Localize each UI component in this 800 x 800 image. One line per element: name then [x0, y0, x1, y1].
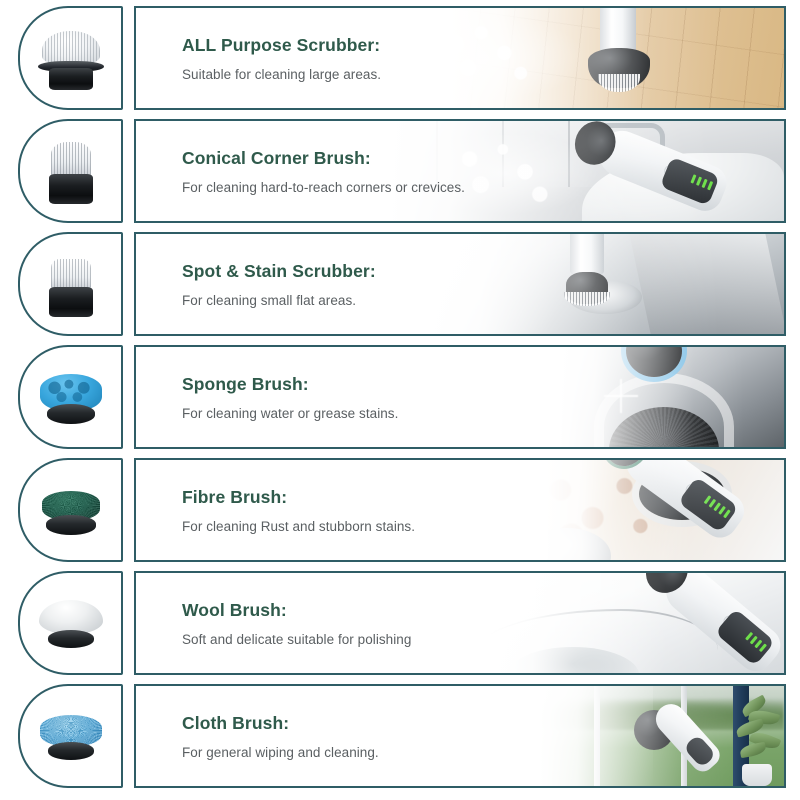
stainless-sink-drain-photo: [384, 234, 784, 334]
card-title: Conical Corner Brush:: [182, 148, 465, 169]
info-card[interactable]: Fibre Brush: For cleaning Rust and stubb…: [134, 458, 786, 562]
card-description: For cleaning small flat areas.: [182, 293, 376, 308]
info-card[interactable]: ALL Purpose Scrubber: Suitable for clean…: [134, 6, 786, 110]
wool-brush-head-icon: [32, 586, 110, 660]
card-title: Fibre Brush:: [182, 487, 415, 508]
card-title: Wool Brush:: [182, 600, 411, 621]
handheld-scrubber-icon: [592, 124, 732, 216]
thumbnail-box[interactable]: [18, 232, 123, 336]
list-item[interactable]: Cloth Brush: For general wiping and clea…: [0, 684, 800, 788]
card-description: For cleaning water or grease stains.: [182, 406, 398, 421]
list-item[interactable]: Conical Corner Brush: For cleaning hard-…: [0, 119, 800, 223]
card-title: Cloth Brush:: [182, 713, 379, 734]
thumbnail-box[interactable]: [18, 571, 123, 675]
handheld-polisher-icon: [657, 573, 784, 673]
card-text: Wool Brush: Soft and delicate suitable f…: [182, 573, 411, 673]
card-text: Spot & Stain Scrubber: For cleaning smal…: [182, 234, 376, 334]
card-text: Conical Corner Brush: For cleaning hard-…: [182, 121, 465, 221]
all-purpose-scrubber-head-icon: [32, 21, 110, 95]
spot-stain-scrubber-head-icon: [32, 247, 110, 321]
cloth-brush-head-icon: [32, 699, 110, 773]
card-description: For general wiping and cleaning.: [182, 745, 379, 760]
info-card[interactable]: Conical Corner Brush: For cleaning hard-…: [134, 119, 786, 223]
info-card[interactable]: Cloth Brush: For general wiping and clea…: [134, 684, 786, 788]
info-card[interactable]: Wool Brush: Soft and delicate suitable f…: [134, 571, 786, 675]
silver-car-fender-photo: [534, 347, 784, 447]
thumbnail-box[interactable]: [18, 684, 123, 788]
card-description: Soft and delicate suitable for polishing: [182, 632, 411, 647]
sponge-brush-head-icon: [32, 360, 110, 434]
list-item[interactable]: Sponge Brush: For cleaning water or grea…: [0, 345, 800, 449]
list-item[interactable]: Spot & Stain Scrubber: For cleaning smal…: [0, 232, 800, 336]
card-description: For cleaning Rust and stubborn stains.: [182, 519, 415, 534]
thumbnail-box[interactable]: [18, 119, 123, 223]
card-description: For cleaning hard-to-reach corners or cr…: [182, 180, 465, 195]
card-title: Sponge Brush:: [182, 374, 398, 395]
conical-corner-brush-head-icon: [32, 134, 110, 208]
handheld-scrubber-icon: [650, 698, 724, 776]
fibre-brush-head-icon: [32, 473, 110, 547]
list-item[interactable]: Fibre Brush: For cleaning Rust and stubb…: [0, 458, 800, 562]
thumbnail-box[interactable]: [18, 458, 123, 562]
handheld-scrubber-icon: [617, 460, 751, 544]
white-car-panel-photo: [454, 573, 784, 673]
card-text: Sponge Brush: For cleaning water or grea…: [182, 347, 398, 447]
wood-floor-foam-photo: [412, 8, 784, 108]
list-item[interactable]: Wool Brush: Soft and delicate suitable f…: [0, 571, 800, 675]
potted-plant-icon: [719, 694, 784, 786]
rusty-stove-top-photo: [518, 460, 784, 560]
brush-attachment-guide: ALL Purpose Scrubber: Suitable for clean…: [0, 0, 800, 800]
info-card[interactable]: Sponge Brush: For cleaning water or grea…: [134, 345, 786, 449]
card-title: Spot & Stain Scrubber:: [182, 261, 376, 282]
card-text: Fibre Brush: For cleaning Rust and stubb…: [182, 460, 415, 560]
card-text: ALL Purpose Scrubber: Suitable for clean…: [182, 8, 381, 108]
card-title: ALL Purpose Scrubber:: [182, 35, 381, 56]
card-description: Suitable for cleaning large areas.: [182, 67, 381, 82]
thumbnail-box[interactable]: [18, 345, 123, 449]
thumbnail-box[interactable]: [18, 6, 123, 110]
list-item[interactable]: ALL Purpose Scrubber: Suitable for clean…: [0, 6, 800, 110]
window-lawn-photo: [512, 686, 784, 786]
info-card[interactable]: Spot & Stain Scrubber: For cleaning smal…: [134, 232, 786, 336]
card-text: Cloth Brush: For general wiping and clea…: [182, 686, 379, 786]
